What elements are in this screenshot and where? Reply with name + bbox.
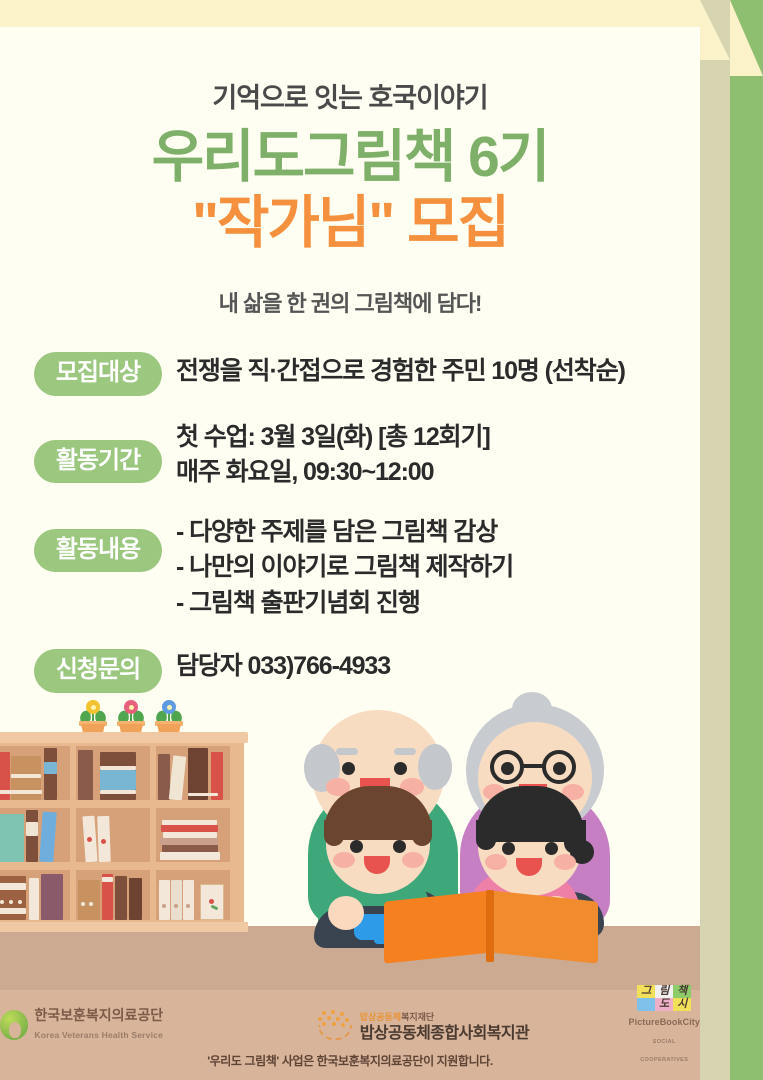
bookshelf-cubby bbox=[76, 870, 150, 920]
footer-logos: 한국보훈복지의료공단 Korea Veterans Health Service… bbox=[0, 1001, 700, 1049]
bookshelf-base-panel bbox=[0, 922, 248, 932]
bookshelf bbox=[0, 732, 252, 932]
poster-title-sub: "작가님" 모집 bbox=[0, 194, 700, 254]
info-line: - 다양한 주제를 담은 그림책 감상 bbox=[176, 515, 674, 551]
info-line: 첫 수업: 3월 3일(화) [총 12회기] bbox=[176, 420, 674, 456]
poster-overline: 기억으로 잇는 호국이야기 bbox=[0, 76, 700, 115]
info-line: - 그림책 출판기념회 진행 bbox=[176, 586, 674, 622]
pbc-tile: 도 bbox=[655, 998, 673, 1011]
bookshelf-cubby bbox=[0, 746, 70, 800]
bookshelf-cubby bbox=[76, 808, 150, 862]
footer-support-note: '우리도 그림책' 사업은 한국보훈복지의료공단이 지원합니다. bbox=[0, 1052, 700, 1069]
info-line-phone: 담당자 033)766-4933 bbox=[176, 649, 674, 685]
bookshelf-cubby bbox=[156, 746, 230, 800]
info-line: - 나만의 이야기로 그림책 제작하기 bbox=[176, 550, 674, 586]
kvhs-logo-english: Korea Veterans Health Service bbox=[34, 1030, 163, 1040]
reading-family-illustration bbox=[300, 700, 700, 960]
bapsang-logo-subtitle-orange: 밥상공동체 bbox=[360, 1012, 401, 1022]
poster-root: 기억으로 잇는 호국이야기 우리도그림책 6기 "작가님" 모집 내 삶을 한 … bbox=[0, 0, 763, 1080]
badge-신청문의: 신청문의 bbox=[34, 649, 162, 693]
badge-활동기간: 활동기간 bbox=[34, 440, 162, 484]
bookshelf-cubby bbox=[156, 870, 230, 920]
pbc-tile bbox=[637, 998, 655, 1011]
kvhs-logo-text: 한국보훈복지의료공단 Korea Veterans Health Service bbox=[34, 1007, 282, 1043]
pbc-tile: 시 bbox=[673, 998, 691, 1011]
badge-활동내용: 활동내용 bbox=[34, 529, 162, 573]
bookshelf-cubby bbox=[156, 808, 230, 862]
info-body-period: 첫 수업: 3월 3일(화) [총 12회기] 매주 화요일, 09:30~12… bbox=[162, 418, 674, 491]
info-line: 매주 화요일, 09:30~12:00 bbox=[176, 455, 674, 491]
info-body-target: 전쟁을 직·간접으로 경험한 주민 10명 (선착순) bbox=[162, 352, 674, 390]
bookshelf-cubby bbox=[76, 746, 150, 800]
bookshelf-top-panel bbox=[0, 732, 248, 743]
poster-title-main: 우리도그림책 6기 bbox=[0, 128, 700, 188]
picturebookcity-logo-english: PictureBookCity bbox=[628, 1017, 700, 1027]
info-row-content: 활동내용 - 다양한 주제를 담은 그림책 감상 - 나만의 이야기로 그림책 … bbox=[34, 513, 674, 622]
poster-tagline: 내 삶을 한 권의 그림책에 담다! bbox=[0, 286, 700, 318]
top-yellow-band bbox=[0, 0, 763, 27]
bapsang-logo-subtitle-dark: 복지재단 bbox=[401, 1012, 434, 1022]
info-row-target: 모집대상 전쟁을 직·간접으로 경험한 주민 10명 (선착순) bbox=[34, 352, 674, 396]
bookshelf-cubby bbox=[0, 870, 70, 920]
bapsang-logo-text: 밥상공동체복지재단 밥상공동체종합사회복지관 bbox=[360, 1007, 595, 1043]
pbc-tile: 림 bbox=[655, 985, 673, 998]
info-body-contact: 담당자 033)766-4933 bbox=[162, 647, 674, 685]
info-list: 모집대상 전쟁을 직·간접으로 경험한 주민 10명 (선착순) 활동기간 첫 … bbox=[34, 352, 674, 693]
pbc-tile: 그 bbox=[637, 985, 655, 998]
info-line: 전쟁을 직·간접으로 경험한 주민 10명 (선착순) bbox=[176, 354, 674, 390]
book-spine-green-strip bbox=[730, 0, 763, 1080]
logo-korea-veterans-health-service: 한국보훈복지의료공단 Korea Veterans Health Service bbox=[0, 1007, 282, 1043]
kvhs-logo-korean: 한국보훈복지의료공단 bbox=[34, 1007, 163, 1023]
book-spine-beige-strip bbox=[700, 0, 730, 1080]
picturebookcity-logo-icon: 그 림 책 도 시 bbox=[637, 985, 691, 1011]
bookshelf-cubby bbox=[0, 808, 70, 862]
bapsang-logo-title: 밥상공동체종합사회복지관 bbox=[360, 1025, 529, 1042]
info-row-period: 활동기간 첫 수업: 3월 3일(화) [총 12회기] 매주 화요일, 09:… bbox=[34, 418, 674, 491]
kvhs-logo-icon bbox=[0, 1010, 28, 1040]
info-row-contact: 신청문의 담당자 033)766-4933 bbox=[34, 647, 674, 693]
bapsang-logo-subtitle: 밥상공동체복지재단 bbox=[360, 1012, 435, 1022]
pbc-tile: 책 bbox=[673, 985, 691, 998]
bapsang-logo-icon bbox=[316, 1010, 354, 1040]
badge-모집대상: 모집대상 bbox=[34, 352, 162, 396]
logo-bapsang-community-welfare: 밥상공동체복지재단 밥상공동체종합사회복지관 bbox=[316, 1007, 595, 1043]
info-body-content: - 다양한 주제를 담은 그림책 감상 - 나만의 이야기로 그림책 제작하기 … bbox=[162, 513, 674, 622]
